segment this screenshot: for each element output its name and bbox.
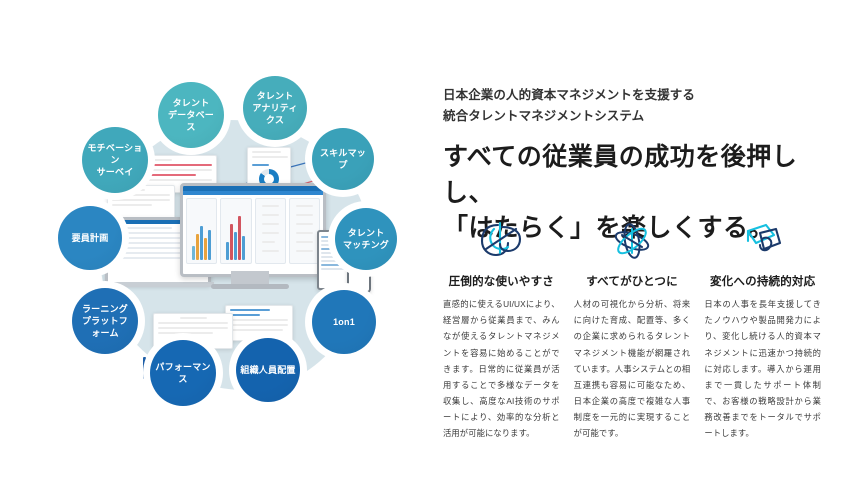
capability-bubble-label: 組織人員配置 — [236, 364, 299, 376]
capability-bubble-label: モチベーションサーベイ — [82, 142, 148, 178]
capability-bubble-label-line2: マッチング — [339, 239, 393, 251]
feature-body: 人材の可視化から分析、将来に向けた育成、配置等、多くの企業に求められるタレントマ… — [574, 296, 691, 442]
capability-bubble-label: ラーニングプラットフォーム — [72, 303, 138, 339]
capability-bubble-label: パフォーマンス — [150, 361, 216, 385]
atom-orbit-icon — [574, 215, 691, 267]
dashboard-chart-card — [220, 198, 251, 264]
dashboard-list-card — [289, 198, 320, 264]
capability-bubble-label-line2: サーベイ — [86, 166, 144, 178]
capability-bubble-label: 要員計画 — [68, 232, 113, 244]
monitor-stand — [231, 271, 269, 284]
layered-panels-icon — [704, 215, 821, 267]
capability-wheel-diagram: タレントデータベースタレントアナリティクスモチベーションサーベイスキルマップ要員… — [40, 60, 430, 460]
capability-bubble-label-line2: データベース — [162, 109, 220, 133]
screen-card-calendar — [225, 305, 293, 341]
leaf-loop-icon — [443, 215, 560, 267]
capability-bubble-talent-analytics[interactable]: タレントアナリティクス — [243, 76, 307, 140]
capability-bubble-one-on-one[interactable]: 1on1 — [312, 290, 376, 354]
feature-column: 圧倒的な使いやすさ 直感的に使えるUI/UXにより、経営層から従業員まで、みんな… — [443, 215, 560, 442]
capability-bubble-motivation-survey[interactable]: モチベーションサーベイ — [82, 127, 148, 193]
monitor-foot — [211, 284, 289, 289]
capability-bubble-talent-database[interactable]: タレントデータベース — [158, 82, 224, 148]
hero-kicker: 日本企業の人的資本マネジメントを支援する 統合タレントマネジメントシステム — [443, 85, 818, 126]
capability-bubble-talent-matching[interactable]: タレントマッチング — [335, 208, 397, 270]
feature-column: 変化への持続的対応 日本の人事を長年支援してきたノウハウや製品開発力により、変化… — [704, 215, 821, 442]
capability-bubble-learning-platform[interactable]: ラーニングプラットフォーム — [72, 288, 138, 354]
feature-title: 圧倒的な使いやすさ — [443, 273, 560, 289]
capability-bubble-label-line2: プラットフォーム — [76, 315, 134, 339]
feature-title: すべてがひとつに — [574, 273, 691, 289]
feature-columns: 圧倒的な使いやすさ 直感的に使えるUI/UXにより、経営層から従業員まで、みんな… — [443, 215, 821, 442]
capability-bubble-headcount-planning[interactable]: 要員計画 — [58, 206, 122, 270]
capability-bubble-label: タレントマッチング — [335, 227, 397, 251]
feature-body: 日本の人事を長年支援してきたノウハウや製品開発力により、変化し続ける人的資本マネ… — [704, 296, 821, 442]
hero-kicker-line-1: 日本企業の人的資本マネジメントを支援する — [443, 85, 818, 106]
feature-title: 変化への持続的対応 — [704, 273, 821, 289]
capability-bubble-label: スキルマップ — [312, 147, 374, 171]
capability-bubble-label: タレントデータベース — [158, 97, 224, 133]
capability-bubble-skill-map[interactable]: スキルマップ — [312, 128, 374, 190]
dashboard-table-card — [255, 198, 286, 264]
capability-bubble-label: タレントアナリティクス — [243, 90, 307, 126]
capability-bubble-label-line2: アナリティクス — [247, 102, 303, 126]
hero-kicker-line-2: 統合タレントマネジメントシステム — [443, 106, 818, 127]
capability-bubble-performance[interactable]: パフォーマンス — [150, 340, 216, 406]
feature-column: すべてがひとつに 人材の可視化から分析、将来に向けた育成、配置等、多くの企業に求… — [574, 215, 691, 442]
feature-body: 直感的に使えるUI/UXにより、経営層から従業員まで、みんなが使えるタレントマネ… — [443, 296, 560, 442]
hero-page: タレントデータベースタレントアナリティクスモチベーションサーベイスキルマップ要員… — [0, 0, 850, 478]
hero-headline-line-1: すべての従業員の成功を後押しし、 — [443, 140, 818, 211]
capability-bubble-org-staffing[interactable]: 組織人員配置 — [236, 338, 300, 402]
capability-bubble-label: 1on1 — [329, 316, 359, 328]
dashboard-chart-card — [186, 198, 217, 264]
desktop-monitor-mockup — [180, 183, 326, 277]
